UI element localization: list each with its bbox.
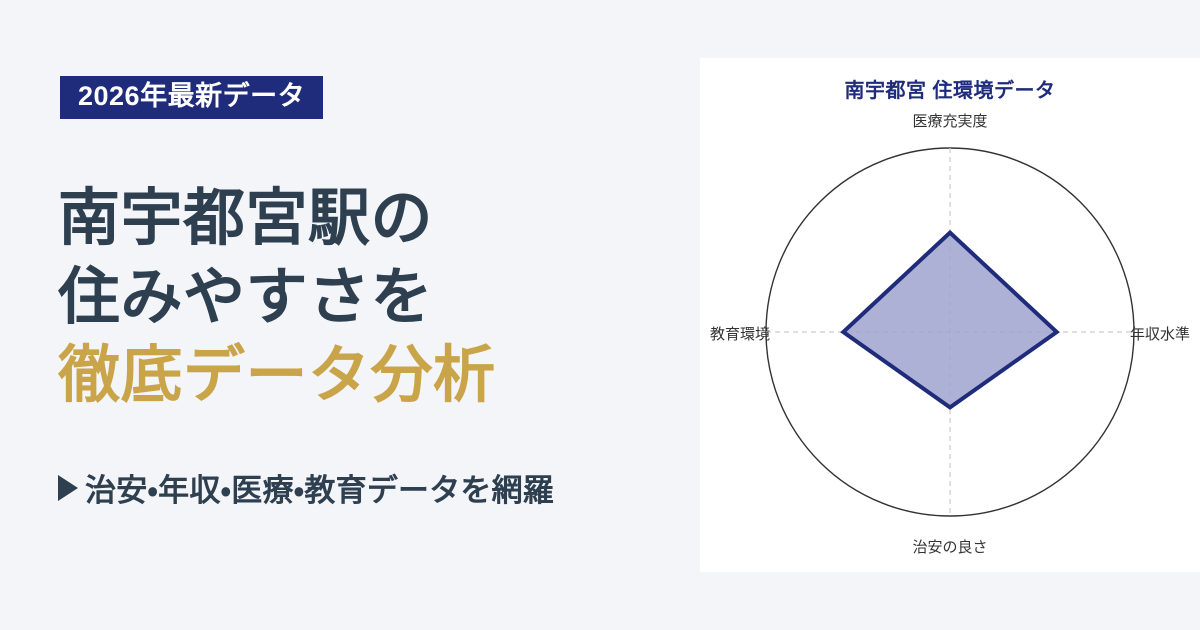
subtitle: 治安・年収・医療・教育データを網羅: [58, 465, 554, 510]
headline-line-1: 南宇都宮駅の: [58, 180, 698, 259]
radar-axis-label-bottom: 治安の良さ: [700, 536, 1200, 557]
left-content-column: 2026年最新データ 南宇都宮駅の 住みやすさを 徹底データ分析 治安・年収・医…: [0, 0, 700, 630]
radar-axis-label-top: 医療充実度: [700, 110, 1200, 131]
radar-chart-svg: [700, 58, 1200, 572]
date-badge: 2026年最新データ: [60, 76, 323, 119]
radar-data-polygon: [843, 233, 1056, 408]
headline-line-2: 住みやすさを: [58, 259, 698, 338]
radar-axis-label-right: 年収水準: [1130, 323, 1190, 344]
headline-line-3-accent: 徹底データ分析: [58, 337, 698, 416]
radar-chart-panel: 南宇都宮 住環境データ 医療充実度 年収水準 治安の良さ 教育環境: [700, 58, 1200, 572]
subtitle-text: 治安・年収・医療・教育データを網羅: [85, 465, 554, 510]
page-title: 南宇都宮駅の 住みやすさを 徹底データ分析: [58, 180, 698, 416]
radar-axis-label-left: 教育環境: [710, 323, 770, 344]
play-triangle-icon: [58, 475, 78, 501]
